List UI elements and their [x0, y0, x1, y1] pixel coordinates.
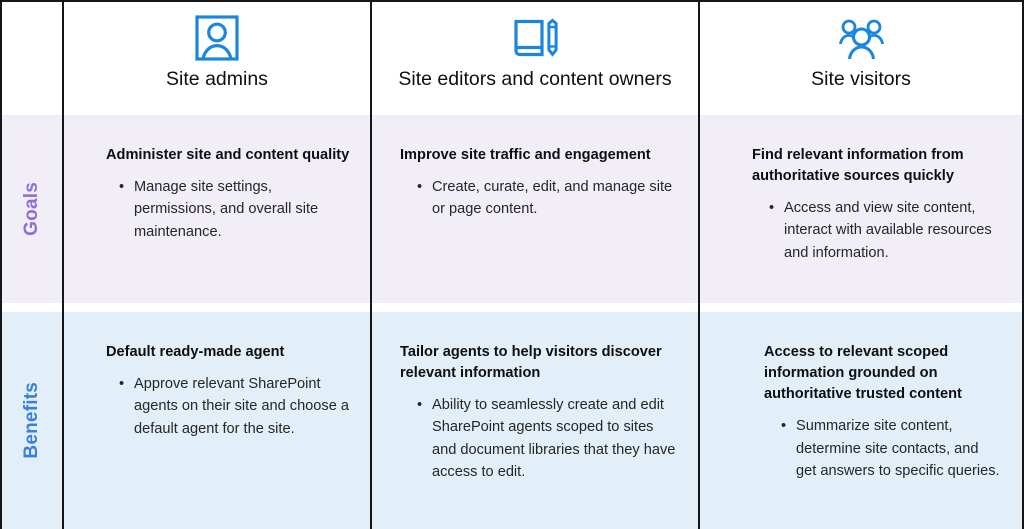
row-label-benefits-text: Benefits [21, 382, 43, 459]
bullet-glyph: • [119, 373, 124, 395]
people-group-icon [833, 10, 889, 66]
row-label-benefits: Benefits [2, 312, 62, 529]
cell-bullet-list: •Manage site settings, permissions, and … [84, 176, 350, 243]
cell-site-admins-goals: Administer site and content quality •Man… [64, 115, 370, 303]
list-item: •Ability to seamlessly create and edit S… [414, 394, 678, 483]
cell-heading: Default ready-made agent [84, 342, 350, 363]
column-header-site-visitors: Site visitors [700, 2, 1022, 115]
row-divider-gap [372, 303, 698, 312]
cell-heading: Tailor agents to help visitors discover … [392, 342, 678, 384]
cell-bullet-list: •Summarize site content, determine site … [720, 415, 1002, 482]
persona-goals-benefits-matrix: Goals Benefits Site admins Administer si… [0, 0, 1024, 529]
cell-site-admins-benefits: Default ready-made agent •Approve releva… [64, 312, 370, 529]
book-and-pencil-icon [509, 10, 561, 66]
bullet-glyph: • [119, 176, 124, 198]
cell-site-editors-benefits: Tailor agents to help visitors discover … [372, 312, 698, 529]
bullet-glyph: • [769, 197, 774, 219]
row-divider-gap [700, 303, 1022, 312]
list-item-text: Create, curate, edit, and manage site or… [432, 179, 672, 217]
bullet-glyph: • [781, 415, 786, 437]
list-item: •Create, curate, edit, and manage site o… [414, 176, 678, 220]
column-title-site-editors: Site editors and content owners [398, 68, 671, 91]
column-site-editors: Site editors and content owners Improve … [372, 2, 700, 527]
column-site-visitors: Site visitors Find relevant information … [700, 2, 1022, 527]
bullet-glyph: • [417, 394, 422, 416]
cell-heading: Find relevant information from authorita… [720, 145, 1002, 187]
cell-bullet-list: •Access and view site content, interact … [720, 197, 1002, 264]
person-in-frame-icon [194, 10, 240, 66]
persona-columns: Site admins Administer site and content … [64, 2, 1022, 527]
column-header-site-admins: Site admins [64, 2, 370, 115]
list-item-text: Ability to seamlessly create and edit Sh… [432, 397, 675, 480]
cell-bullet-list: •Ability to seamlessly create and edit S… [392, 394, 678, 483]
cell-site-editors-goals: Improve site traffic and engagement •Cre… [372, 115, 698, 303]
cell-site-visitors-benefits: Access to relevant scoped information gr… [700, 312, 1022, 529]
column-title-site-admins: Site admins [166, 68, 268, 91]
list-item: •Access and view site content, interact … [766, 197, 1002, 264]
list-item: •Approve relevant SharePoint agents on t… [116, 373, 350, 440]
list-item-text: Manage site settings, permissions, and o… [134, 179, 318, 239]
cell-site-visitors-goals: Find relevant information from authorita… [700, 115, 1022, 303]
row-label-goals: Goals [2, 115, 62, 303]
list-item: •Summarize site content, determine site … [778, 415, 1002, 482]
row-label-goals-text: Goals [21, 182, 43, 236]
cell-bullet-list: •Create, curate, edit, and manage site o… [392, 176, 678, 220]
column-site-admins: Site admins Administer site and content … [64, 2, 372, 527]
list-item-text: Access and view site content, interact w… [784, 200, 992, 260]
bullet-glyph: • [417, 176, 422, 198]
cell-heading: Improve site traffic and engagement [392, 145, 678, 166]
list-item-text: Summarize site content, determine site c… [796, 418, 1000, 478]
cell-heading: Access to relevant scoped information gr… [720, 342, 1002, 405]
list-item: •Manage site settings, permissions, and … [116, 176, 350, 243]
cell-heading: Administer site and content quality [84, 145, 350, 166]
list-item-text: Approve relevant SharePoint agents on th… [134, 376, 349, 436]
column-title-site-visitors: Site visitors [811, 68, 911, 91]
row-divider-gap [64, 303, 370, 312]
column-header-site-editors: Site editors and content owners [372, 2, 698, 115]
cell-bullet-list: •Approve relevant SharePoint agents on t… [84, 373, 350, 440]
row-label-strip: Goals Benefits [2, 2, 64, 527]
